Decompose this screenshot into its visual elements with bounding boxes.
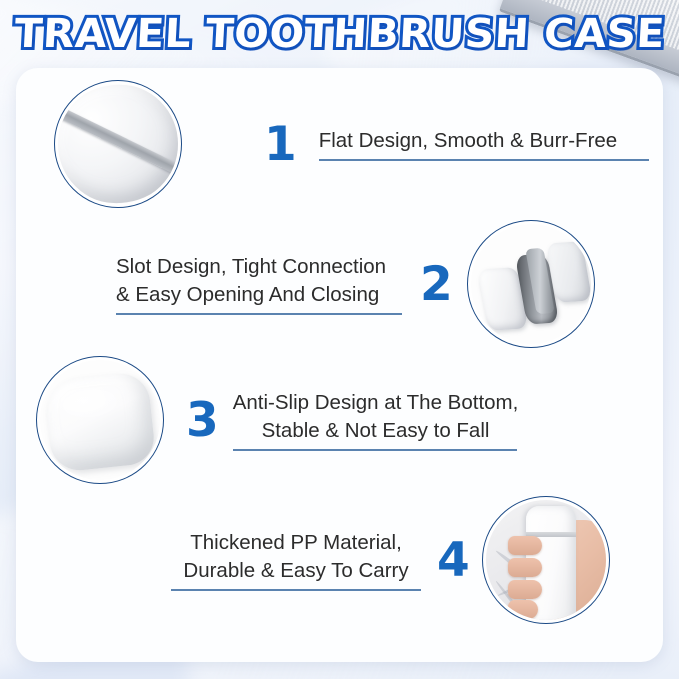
features-card: 1 Flat Design, Smooth & Burr-Free Slot D… [16, 68, 663, 662]
feature-underline [171, 589, 421, 591]
feature-underline [319, 159, 649, 161]
case-highlight [61, 387, 118, 420]
feature-number-3: 3 [186, 397, 219, 444]
case-bottom-view-photo [43, 371, 156, 473]
infographic-page: TRAVEL TOOTHBRUSH CASE 1 Flat Design, Sm… [0, 0, 679, 679]
feature-text-line: Durable & Easy To Carry [171, 557, 421, 585]
feature-text-line: Stable & Not Easy to Fall [233, 417, 519, 445]
feature-row-1: 1 Flat Design, Smooth & Burr-Free [54, 80, 649, 208]
exploded-case-parts-photo [471, 224, 591, 344]
feature-image-3 [36, 356, 164, 484]
page-title: TRAVEL TOOTHBRUSH CASE [0, 8, 679, 60]
feature-text-1: Flat Design, Smooth & Burr-Free [319, 127, 649, 161]
feature-text-4: Thickened PP Material, Durable & Easy To… [171, 529, 421, 591]
feature-text-line: Thickened PP Material, [171, 529, 421, 557]
hand-finger [508, 536, 542, 555]
oval-case-with-seam-photo [58, 84, 178, 204]
page-title-text: TRAVEL TOOTHBRUSH CASE [13, 8, 666, 60]
feature-image-4 [482, 496, 610, 624]
feature-row-3: 3 Anti-Slip Design at The Bottom, Stable… [36, 356, 518, 484]
hand-finger [508, 600, 538, 619]
feature-text-3: Anti-Slip Design at The Bottom, Stable &… [233, 389, 519, 451]
feature-number-4: 4 [437, 537, 470, 584]
case-seam [58, 100, 178, 179]
feature-image-1 [54, 80, 182, 208]
hand-finger [508, 558, 542, 577]
feature-underline [116, 313, 402, 315]
feature-text-line: & Easy Opening And Closing [116, 281, 402, 309]
feature-underline [233, 449, 517, 451]
feature-row-4: Thickened PP Material, Durable & Easy To… [171, 496, 610, 624]
feature-row-2: Slot Design, Tight Connection & Easy Ope… [116, 220, 595, 348]
hand-finger [508, 580, 542, 599]
feature-number-2: 2 [420, 261, 453, 308]
feature-text-line: Anti-Slip Design at The Bottom, [233, 389, 519, 417]
feature-text-2: Slot Design, Tight Connection & Easy Ope… [116, 253, 402, 315]
hand-holding-case-photo [486, 500, 606, 620]
feature-number-1: 1 [264, 121, 297, 168]
feature-text-line: Flat Design, Smooth & Burr-Free [319, 127, 649, 155]
feature-image-2 [467, 220, 595, 348]
feature-text-line: Slot Design, Tight Connection [116, 253, 402, 281]
